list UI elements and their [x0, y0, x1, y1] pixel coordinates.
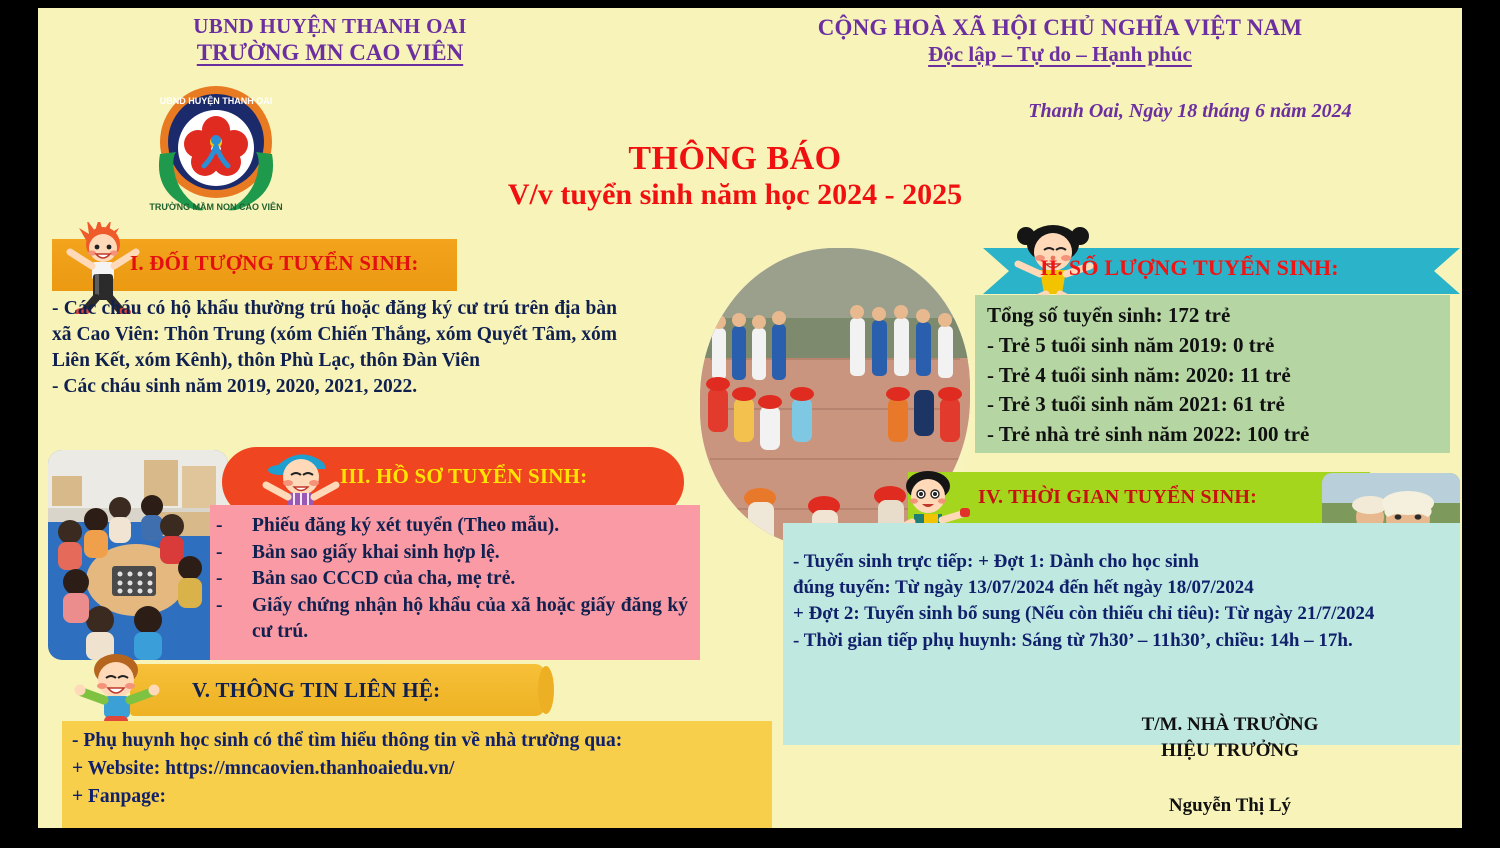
list-item-text: Giấy chứng nhận hộ khẩu của xã hoặc giấy…: [252, 593, 688, 646]
header-district-label: UBND HUYỆN THANH OAI: [60, 14, 600, 39]
announcement-poster: UBND HUYỆN THANH OAI TRƯỜNG MN CAO VIÊN …: [0, 0, 1500, 848]
list-item: - Giấy chứng nhận hộ khẩu của xã hoặc gi…: [216, 593, 688, 646]
title-main: THÔNG BÁO: [430, 140, 1040, 178]
title-sub: V/v tuyển sinh năm học 2024 - 2025: [430, 178, 1040, 212]
bullet-marker: -: [216, 566, 246, 593]
section-4-line: - Tuyển sinh trực tiếp: + Đợt 1: Dành ch…: [793, 549, 1448, 575]
section-5-line: - Phụ huynh học sinh có thể tìm hiểu thô…: [72, 727, 762, 755]
signature-org-label: T/M. NHÀ TRƯỜNG: [1000, 712, 1460, 738]
section-2-line: Tổng số tuyển sinh: 172 trẻ: [987, 301, 1440, 331]
list-item: - Phiếu đăng ký xét tuyển (Theo mẫu).: [216, 513, 688, 540]
section-1-paragraph-1: - Các cháu có hộ khẩu thường trú hoặc đă…: [52, 296, 617, 374]
bullet-marker: -: [216, 513, 246, 540]
section-5-line: + Website: https://mncaovien.thanhoaiedu…: [72, 755, 762, 783]
header-left-block: UBND HUYỆN THANH OAI TRƯỜNG MN CAO VIÊN: [60, 14, 600, 66]
header-motto-label: Độc lập – Tự do – Hạnh phúc: [700, 42, 1420, 67]
date-line: Thanh Oai, Ngày 18 tháng 6 năm 2024: [940, 100, 1440, 123]
section-2-heading: II. SỐ LƯỢNG TUYỂN SINH:: [1040, 255, 1460, 281]
section-1-heading: I. ĐỐI TƯỢNG TUYỂN SINH:: [130, 251, 470, 276]
header-country-label: CỘNG HOÀ XÃ HỘI CHỦ NGHĨA VIỆT NAM: [700, 14, 1420, 42]
list-item-text: Phiếu đăng ký xét tuyển (Theo mẫu).: [252, 513, 688, 540]
section-5-heading: V. THÔNG TIN LIÊN HỆ:: [192, 678, 552, 703]
section-2-line: - Trẻ nhà trẻ sinh năm 2022: 100 trẻ: [987, 420, 1440, 450]
section-3-body: - Phiếu đăng ký xét tuyển (Theo mẫu). - …: [210, 505, 700, 660]
section-4-line: đúng tuyến: Từ ngày 13/07/2024 đến hết n…: [793, 575, 1448, 601]
section-4-heading: IV. THỜI GIAN TUYỂN SINH:: [978, 486, 1378, 509]
header-right-block: CỘNG HOÀ XÃ HỘI CHỦ NGHĨA VIỆT NAM Độc l…: [700, 14, 1420, 67]
bullet-marker: -: [216, 540, 246, 567]
signature-block: T/M. NHÀ TRƯỜNG HIỆU TRƯỞNG Nguyễn Thị L…: [1000, 712, 1460, 819]
svg-text:TRƯỜNG MẦM NON CAO VIÊN: TRƯỜNG MẦM NON CAO VIÊN: [149, 201, 282, 212]
section-2-line: - Trẻ 4 tuổi sinh năm: 2020: 11 trẻ: [987, 361, 1440, 391]
signature-role-label: HIỆU TRƯỞNG: [1000, 738, 1460, 764]
section-1-body: - Các cháu có hộ khẩu thường trú hoặc đă…: [52, 296, 617, 400]
classroom-children-table-photo: [48, 450, 228, 660]
section-3-heading: III. HỒ SƠ TUYỂN SINH:: [340, 464, 680, 489]
list-item-text: Bản sao giấy khai sinh hợp lệ.: [252, 540, 688, 567]
page-title: THÔNG BÁO V/v tuyển sinh năm học 2024 - …: [430, 140, 1040, 212]
section-2-line: - Trẻ 3 tuổi sinh năm 2021: 61 trẻ: [987, 390, 1440, 420]
section-1-paragraph-2: - Các cháu sinh năm 2019, 2020, 2021, 20…: [52, 374, 617, 400]
list-item-text: Bản sao CCCD của cha, mẹ trẻ.: [252, 566, 688, 593]
section-2-line: - Trẻ 5 tuổi sinh năm 2019: 0 trẻ: [987, 331, 1440, 361]
header-school-label: TRƯỜNG MN CAO VIÊN: [60, 39, 600, 66]
section-2-body: Tổng số tuyển sinh: 172 trẻ - Trẻ 5 tuổi…: [975, 295, 1450, 453]
list-item: - Bản sao giấy khai sinh hợp lệ.: [216, 540, 688, 567]
list-item: - Bản sao CCCD của cha, mẹ trẻ.: [216, 566, 688, 593]
signature-name: Nguyễn Thị Lý: [1000, 793, 1460, 819]
svg-text:UBND HUYỆN THANH OAI: UBND HUYỆN THANH OAI: [160, 95, 273, 106]
section-4-line: - Thời gian tiếp phụ huynh: Sáng từ 7h30…: [793, 628, 1448, 654]
bullet-marker: -: [216, 593, 246, 646]
school-logo: UBND HUYỆN THANH OAI TRƯỜNG MẦM NON CAO …: [126, 82, 306, 214]
section-5-body: - Phụ huynh học sinh có thể tìm hiểu thô…: [62, 721, 772, 828]
section-5-line: + Fanpage:: [72, 783, 762, 811]
section-4-line: + Đợt 2: Tuyển sinh bổ sung (Nếu còn thi…: [793, 601, 1448, 627]
